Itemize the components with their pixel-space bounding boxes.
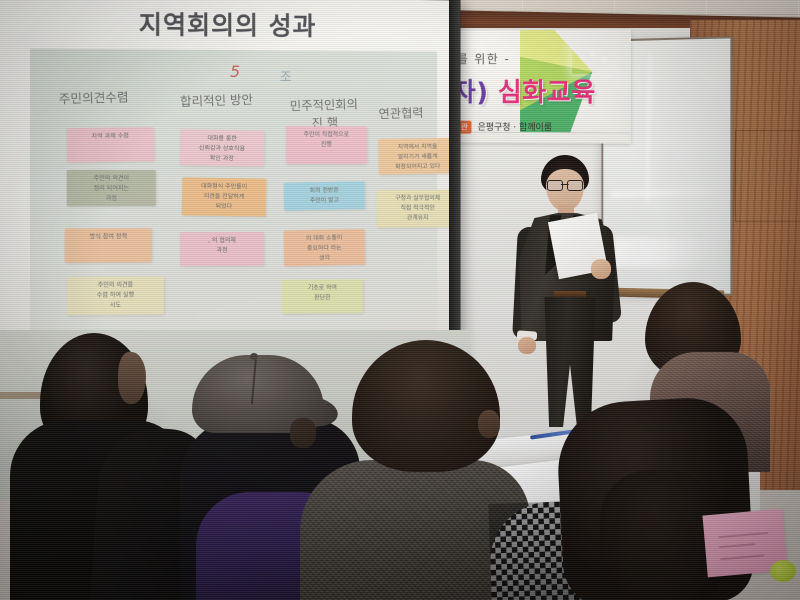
presentation-slide: 지역회의의 성과 5 조 주민의견수렴합리적인 방안민주적인회의진 행연관협력지… (0, 0, 451, 344)
slide-sticky-note: 지역 과제 수렴 (66, 127, 154, 163)
presenter-belt (554, 291, 586, 298)
projection-screen: 지역회의의 성과 5 조 주민의견수렴합리적인 방안민주적인회의진 행연관협력지… (0, 0, 451, 356)
whiteboard-glare (645, 54, 653, 204)
photo-scene: 성화를 위한 - 행자) 심화교육 월) 주관 은평구청 · 함께이룸 (0, 0, 800, 600)
slide-sticky-board: 5 조 주민의견수렴합리적인 방안민주적인회의진 행연관협력지역 과제 수렴대화… (30, 49, 437, 334)
slide-column-header: 연관협력 (378, 102, 424, 122)
wall-inset-panel (735, 130, 800, 222)
slide-title: 지역회의의 성과 (0, 4, 451, 44)
audience-hair-strands (600, 470, 720, 600)
audience-face-profile (290, 418, 316, 448)
slide-sticky-note: 대화형식 주민들이의견을 전달하게되었다 (182, 177, 267, 216)
slide-sticky-note: 주민의 의견을수렴 하여 실행시도 (67, 276, 164, 315)
slide-column-header: 주민의견수렴 (58, 86, 129, 107)
screen-right-frame-bar (449, 0, 460, 366)
slide-sticky-note: 주민이 직접적으로진행 (286, 126, 367, 164)
slide-blue-mark: 조 (280, 66, 292, 85)
slide-sticky-note: 대화를 통한신뢰감과 상호작용확인 과정 (180, 129, 265, 167)
presenter-right-hand (591, 259, 611, 279)
audience-face-profile (118, 352, 146, 404)
green-object (770, 560, 796, 582)
slide-sticky-note: , 의 협의체과정 (180, 232, 264, 266)
presenter-left-hand (518, 337, 536, 354)
slide-sticky-note: 주민의 의견이정리 되어지는과정 (67, 170, 156, 206)
slide-sticky-note: 구청과 실무협의체직접 적극적인관계유지 (377, 190, 451, 228)
slide-column-header: 민주적인회의 (289, 93, 358, 114)
slide-sticky-note: 회의 전반은주민이 알고 (284, 181, 365, 210)
slide-sticky-note: 지역에서 지역을알리기가 새롭게확장되어지고 있다 (378, 138, 451, 175)
cap-button (250, 353, 258, 360)
projection-screen-frame: 지역회의의 성과 5 조 주민의견수렴합리적인 방안민주적인회의진 행연관협력지… (0, 0, 461, 367)
glasses-icon (547, 180, 583, 189)
banner-sparkle-icon (572, 33, 613, 73)
presenter-trousers (541, 297, 599, 427)
banner-line-2-pink: 심화교육 (498, 78, 596, 108)
slide-sticky-note: 의 대화 소통이중요하다 라는생각 (283, 229, 365, 267)
audience-ear (478, 410, 500, 438)
slide-red-mark: 5 (230, 62, 240, 81)
slide-column-header: 합리적인 방안 (180, 89, 254, 110)
slide-sticky-note: 기초로 하여판단한 (282, 279, 363, 313)
slide-sticky-note: 방식 참여 정책 (65, 228, 152, 263)
